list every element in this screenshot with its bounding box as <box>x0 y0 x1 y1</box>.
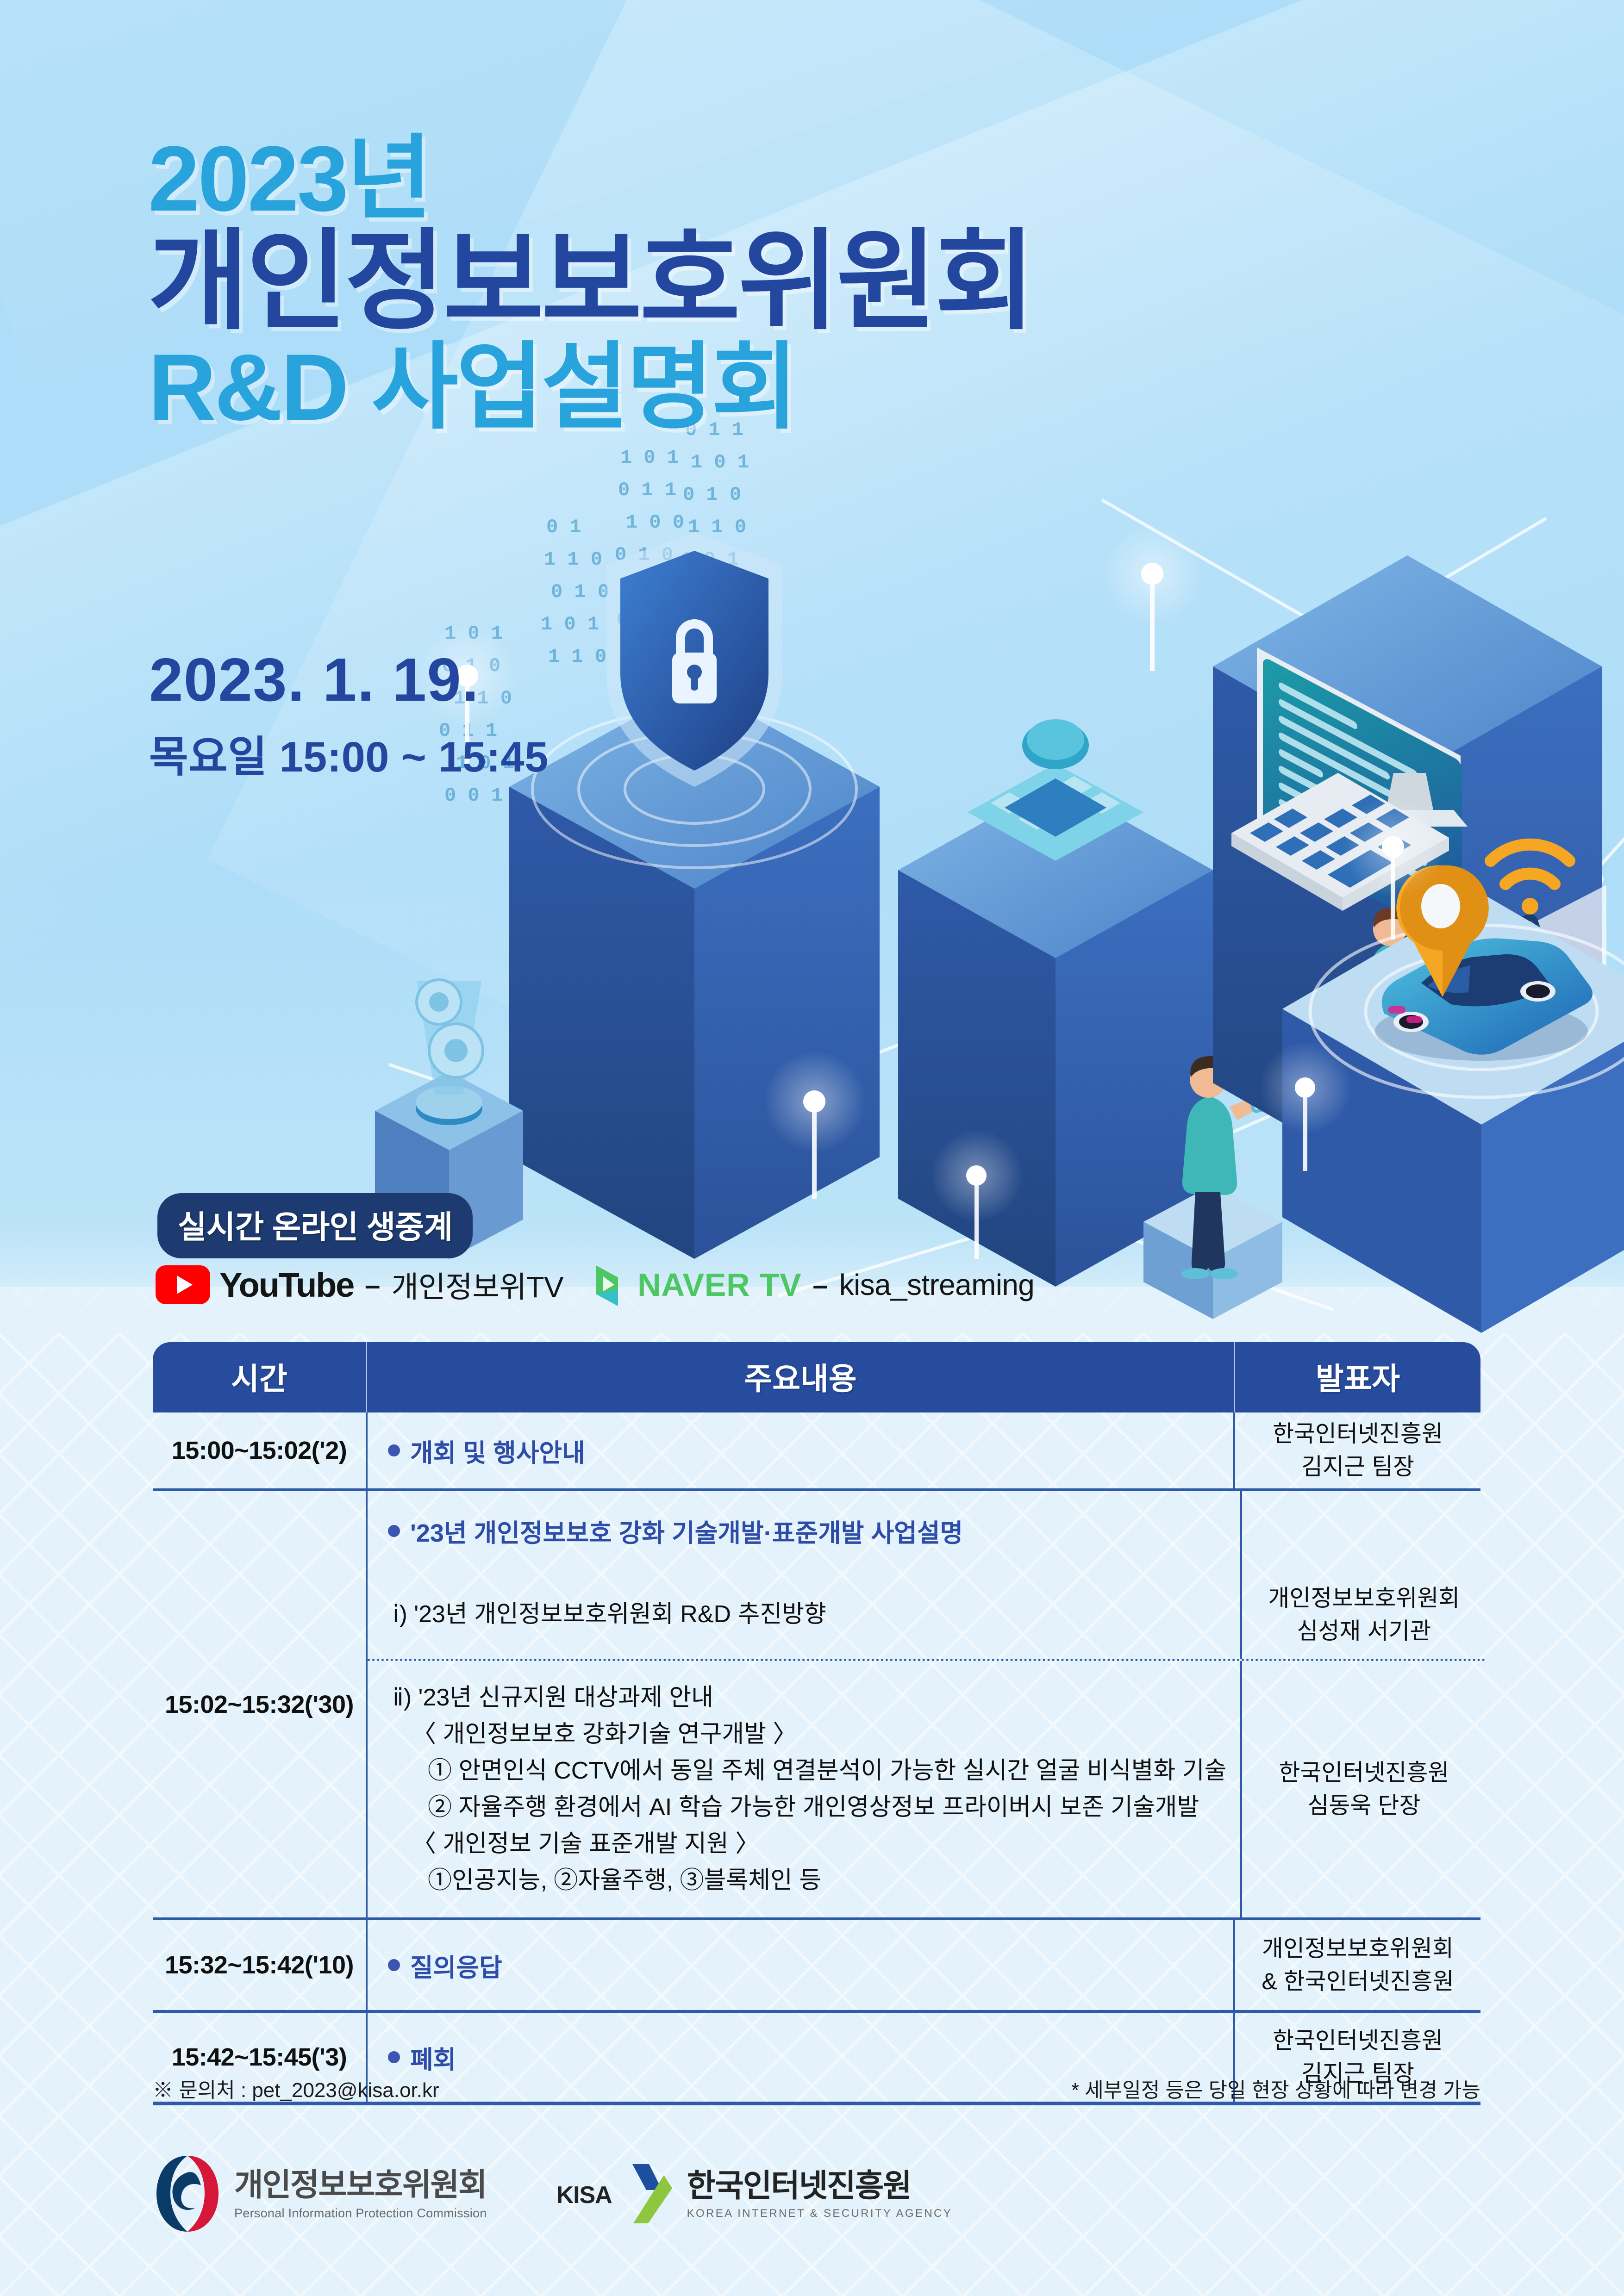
svg-text:1 1 0: 1 1 0 <box>548 646 606 668</box>
content-text: 질의응답 <box>410 1947 502 1984</box>
subrow-line: 〈 개인정보 기술 표준개발 지원 〉 <box>393 1826 1226 1862</box>
content-bullet: 개회 및 행사안내 <box>368 1432 1233 1469</box>
cell-time: 15:02~15:32('30) <box>153 1491 366 1917</box>
government-of-korea-emblem-icon <box>153 2152 222 2238</box>
event-datetime: 2023. 1. 19. 목요일 15:00 ~ 15:45 <box>149 648 549 784</box>
schedule-note: * 세부일정 등은 당일 현장 상황에 따라 변경 가능 <box>1071 2073 1480 2103</box>
svg-text:0 1 1: 0 1 1 <box>618 479 676 501</box>
cell-content: 질의응답 <box>366 1920 1235 2010</box>
table-row: 15:32~15:42('10) 질의응답 개인정보보호위원회& 한국인터넷진흥… <box>153 1920 1480 2013</box>
svg-text:1 0 1: 1 0 1 <box>691 451 749 473</box>
subrow-content: ⅱ) '23년 신규지원 대상과제 안내 〈 개인정보보호 강화기술 연구개발 … <box>368 1661 1240 1917</box>
subrow-line: ⅱ) '23년 신규지원 대상과제 안내 <box>393 1680 1226 1716</box>
event-time: 목요일 15:00 ~ 15:45 <box>149 722 549 784</box>
cell-speaker: 개인정보보호위원회& 한국인터넷진흥원 <box>1235 1920 1480 2010</box>
column-header-content: 주요내용 <box>366 1342 1235 1412</box>
content-text: '23년 개인정보보호 강화 기술개발·표준개발 사업설명 <box>410 1512 963 1549</box>
svg-text:1 1 0: 1 1 0 <box>544 548 602 571</box>
bullet-dot-icon <box>388 1525 400 1537</box>
svg-text:0 1 0: 0 1 0 <box>551 581 609 603</box>
subrow-line: ① 안면인식 CCTV에서 동일 주체 연결분석이 가능한 실시간 얼굴 비식별… <box>393 1753 1226 1789</box>
bullet-dot-icon <box>388 1959 400 1971</box>
footer-notes: ※ 문의처 : pet_2023@kisa.or.kr * 세부일정 등은 당일… <box>153 2073 1480 2103</box>
channel-separator: – <box>365 1269 380 1301</box>
streaming-channels: YouTube – 개인정보위TV NAVER TV – kisa_stream… <box>156 1263 1034 1306</box>
footer-logos: 개인정보보호위원회 Personal Information Protectio… <box>153 2152 1079 2238</box>
table-subrow: ⅱ) '23년 신규지원 대상과제 안내 〈 개인정보보호 강화기술 연구개발 … <box>368 1659 1486 1917</box>
logo-kisa-english: KOREA INTERNET & SECURITY AGENCY <box>687 2207 952 2220</box>
table-row: 15:00~15:02('2) 개회 및 행사안내 한국인터넷진흥원김지근 팀장 <box>153 1412 1480 1491</box>
cell-speaker <box>1240 1491 1486 1570</box>
bullet-dot-icon <box>388 1444 400 1456</box>
naver-tv-wordmark: NAVER TV <box>637 1266 801 1303</box>
cell-speaker: 개인정보보호위원회심성재 서기관 <box>1240 1570 1486 1659</box>
contact-note: ※ 문의처 : pet_2023@kisa.or.kr <box>153 2073 439 2103</box>
logo-pipc: 개인정보보호위원회 Personal Information Protectio… <box>153 2152 487 2238</box>
svg-text:1 0 1: 1 0 1 <box>620 447 679 469</box>
channel-separator: – <box>812 1269 828 1301</box>
title-line-org: 개인정보보호위원회 <box>148 229 1033 335</box>
title-line-subject: R&D 사업설명회 <box>148 342 1033 434</box>
logo-kisa: KISA 한국인터넷진흥원 KOREA INTERNET & SECURITY … <box>556 2161 953 2228</box>
svg-text:1 0 1: 1 0 1 <box>541 613 599 635</box>
kisa-wordmark: KISA <box>556 2181 612 2209</box>
speaker-text: 개인정보보호위원회& 한국인터넷진흥원 <box>1262 1932 1454 1998</box>
time-text: 15:00~15:02('2) <box>172 1436 347 1465</box>
isometric-illustration: 1 0 10 1 01 1 0 0 1 11 0 10 0 1 0 11 1 0… <box>361 380 1624 1333</box>
live-stream-badge: 실시간 온라인 생중계 <box>157 1193 473 1258</box>
poster-root: 1 0 10 1 01 1 0 0 1 11 0 10 0 1 0 11 1 0… <box>0 0 1624 2296</box>
youtube-handle: 개인정보위TV <box>391 1263 563 1306</box>
time-text: 15:42~15:45('3) <box>172 2043 347 2072</box>
table-header-row: 시간 주요내용 발표자 <box>153 1342 1480 1412</box>
table-subrow: ⅰ) '23년 개인정보보호위원회 R&D 추진방향 개인정보보호위원회심성재 … <box>368 1570 1486 1659</box>
cell-content: 개회 및 행사안내 <box>366 1412 1235 1488</box>
subrow-content: ⅰ) '23년 개인정보보호위원회 R&D 추진방향 <box>368 1570 1240 1659</box>
content-text: 개회 및 행사안내 <box>410 1432 585 1469</box>
content-bullet: 질의응답 <box>368 1947 1233 1984</box>
content-bullet: 폐회 <box>368 2039 1233 2076</box>
cell-time: 15:32~15:42('10) <box>153 1920 366 2010</box>
logo-kisa-korean: 한국인터넷진흥원 <box>687 2170 952 2202</box>
channel-youtube[interactable]: YouTube – 개인정보위TV <box>156 1263 563 1306</box>
speaker-text: 개인정보보호위원회심성재 서기관 <box>1268 1582 1460 1648</box>
table-row: 15:02~15:32('30) '23년 개인정보보호 강화 기술개발·표준개… <box>153 1491 1480 1920</box>
naver-tv-icon <box>594 1263 628 1306</box>
youtube-icon <box>156 1265 210 1304</box>
time-text: 15:32~15:42('10) <box>165 1951 354 1979</box>
schedule-table: 시간 주요내용 발표자 15:00~15:02('2) 개회 및 행사안내 한국… <box>153 1342 1480 2105</box>
channel-naver-tv[interactable]: NAVER TV – kisa_streaming <box>594 1263 1034 1306</box>
cell-content: '23년 개인정보보호 강화 기술개발·표준개발 사업설명 ⅰ) '23년 개인… <box>366 1491 1486 1917</box>
subrow-line: ⅰ) '23년 개인정보보호위원회 R&D 추진방향 <box>393 1596 1226 1633</box>
logo-pipc-english: Personal Information Protection Commissi… <box>234 2206 487 2221</box>
content-text: 폐회 <box>410 2039 456 2076</box>
column-header-speaker: 발표자 <box>1235 1342 1480 1412</box>
title-line-year: 2023년 <box>148 134 1033 224</box>
subrow-line: 〈 개인정보보호 강화기술 연구개발 〉 <box>393 1716 1226 1753</box>
time-text: 15:02~15:32('30) <box>165 1690 354 1719</box>
event-date: 2023. 1. 19. <box>149 648 549 712</box>
speaker-text: 한국인터넷진흥원김지근 팀장 <box>1273 1418 1443 1483</box>
subrow-line: ② 자율주행 환경에서 AI 학습 가능한 개인영상정보 프라이버시 보존 기술… <box>393 1789 1226 1826</box>
svg-text:0 1: 0 1 <box>546 516 581 538</box>
speaker-text: 한국인터넷진흥원심동욱 단장 <box>1279 1756 1449 1822</box>
cell-speaker: 한국인터넷진흥원심동욱 단장 <box>1240 1661 1486 1917</box>
bullet-dot-icon <box>388 2051 400 2063</box>
svg-text:0 1 0: 0 1 0 <box>683 484 741 506</box>
svg-text:1 0 0: 1 0 0 <box>626 511 684 534</box>
youtube-wordmark: YouTube <box>219 1265 354 1305</box>
cell-speaker: 한국인터넷진흥원김지근 팀장 <box>1235 1412 1480 1488</box>
cell-time: 15:00~15:02('2) <box>153 1412 366 1488</box>
content-bullet: '23년 개인정보보호 강화 기술개발·표준개발 사업설명 <box>368 1512 1240 1549</box>
naver-tv-handle: kisa_streaming <box>839 1268 1034 1302</box>
svg-text:0 0 1: 0 0 1 <box>444 784 503 807</box>
subrow-line: ①인공지능, ②자율주행, ③블록체인 등 <box>393 1862 1226 1899</box>
logo-pipc-korean: 개인정보보호위원회 <box>234 2169 487 2201</box>
page-title: 2023년 개인정보보호위원회 R&D 사업설명회 <box>148 134 1033 434</box>
column-header-time: 시간 <box>153 1342 366 1412</box>
kisa-logo-icon <box>624 2161 675 2228</box>
